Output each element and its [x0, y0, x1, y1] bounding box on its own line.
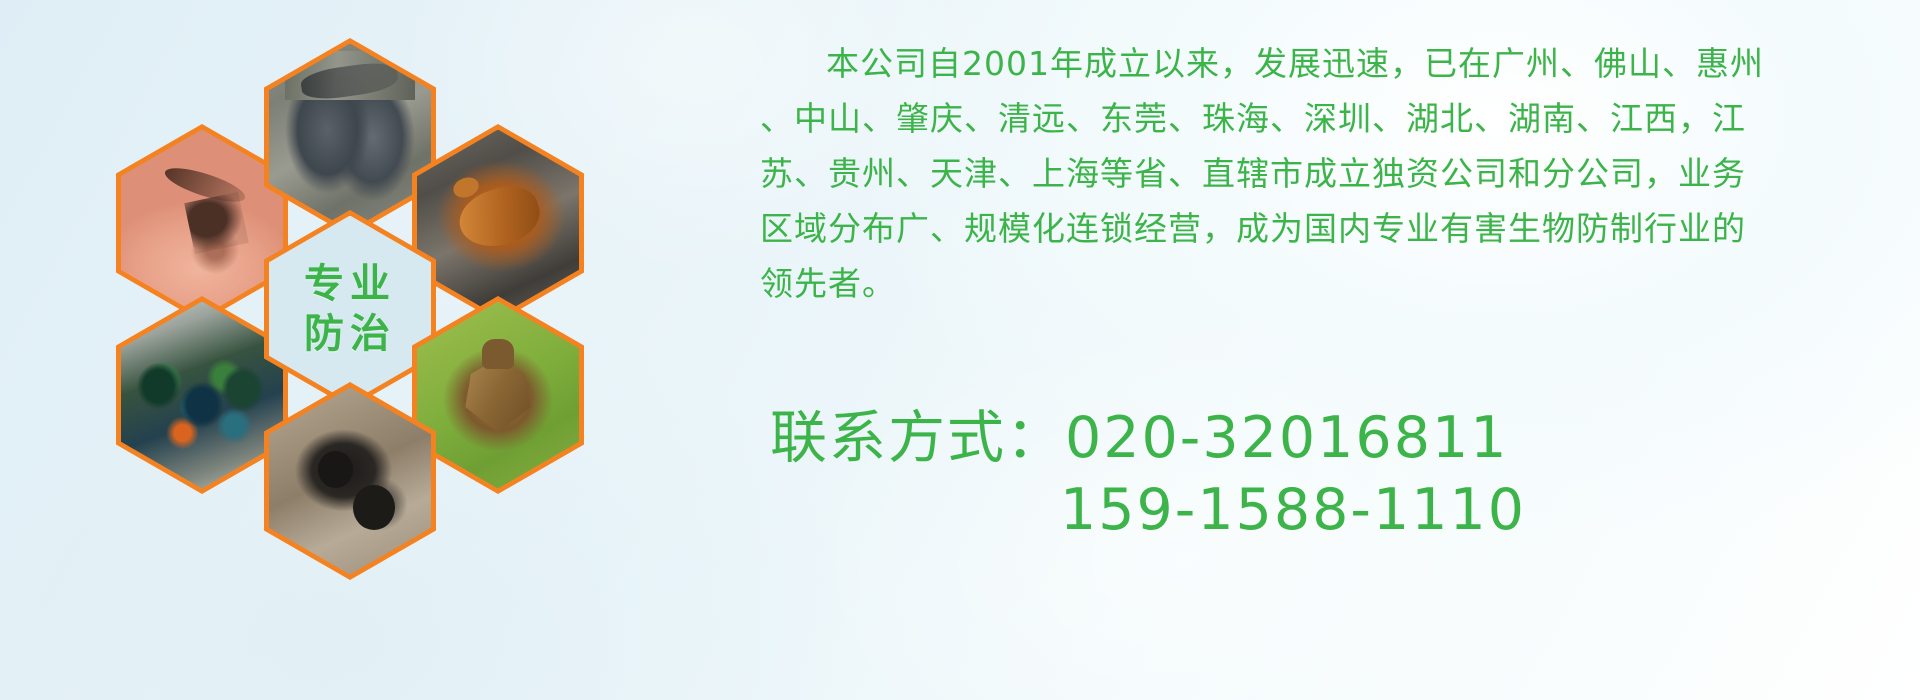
stinkbug-photo: [417, 302, 579, 489]
hex-inner-mosquito: [121, 130, 283, 317]
flies-photo: [121, 302, 283, 489]
description-line-1: 本公司自2001年成立以来，发展迅速，已在广州、佛山、惠州: [760, 36, 1870, 91]
hex-cell-rat: [264, 38, 436, 236]
hex-inner-stinkbug: [417, 302, 579, 489]
ant-photo: [269, 388, 431, 575]
rat-photo: [269, 44, 431, 231]
hex-cell-center-label: 专业 防治: [264, 210, 436, 408]
hex-inner-center: 专业 防治: [269, 216, 431, 403]
company-description: 本公司自2001年成立以来，发展迅速，已在广州、佛山、惠州 、中山、肇庆、清远、…: [760, 36, 1870, 311]
hex-inner-cockroach: [417, 130, 579, 317]
contact-secondary-line: 159-1588-1110: [770, 474, 1890, 546]
description-line-2: 、中山、肇庆、清远、东莞、珠海、深圳、湖北、湖南、江西，江: [760, 91, 1870, 146]
hex-inner-ant: [269, 388, 431, 575]
hex-cell-ant: [264, 382, 436, 580]
contact-phone-secondary[interactable]: 159-1588-1110: [1060, 477, 1526, 543]
hexagon-photo-cluster: 专业 防治: [92, 14, 592, 574]
description-paragraph: 本公司自2001年成立以来，发展迅速，已在广州、佛山、惠州 、中山、肇庆、清远、…: [760, 36, 1870, 311]
description-line-3: 苏、贵州、天津、上海等省、直辖市成立独资公司和分公司，业务: [760, 146, 1870, 201]
hex-inner-flies: [121, 302, 283, 489]
contact-phone-primary[interactable]: 020-32016811: [1065, 405, 1508, 471]
description-line-4: 区域分布广、规模化连锁经营，成为国内专业有害生物防制行业的: [760, 201, 1870, 256]
mosquito-photo: [121, 130, 283, 317]
promo-banner: 专业 防治 本公司自2001年成立以来，发展迅速，已在广州、佛山、惠州 、中山、…: [0, 0, 1920, 700]
cockroach-photo: [417, 130, 579, 317]
contact-label: 联系方式：: [770, 405, 1065, 471]
hex-cell-flies: [116, 296, 288, 494]
center-label-line1: 专业: [304, 264, 396, 304]
contact-block: 联系方式：020-32016811 159-1588-1110: [770, 402, 1890, 546]
hex-inner-rat: [269, 44, 431, 231]
contact-primary-line: 联系方式：020-32016811: [770, 402, 1890, 474]
hex-cell-mosquito: [116, 124, 288, 322]
hex-cell-cockroach: [412, 124, 584, 322]
hex-cell-stinkbug: [412, 296, 584, 494]
center-label-line2: 防治: [304, 314, 396, 354]
description-line-5: 领先者。: [760, 256, 1870, 311]
